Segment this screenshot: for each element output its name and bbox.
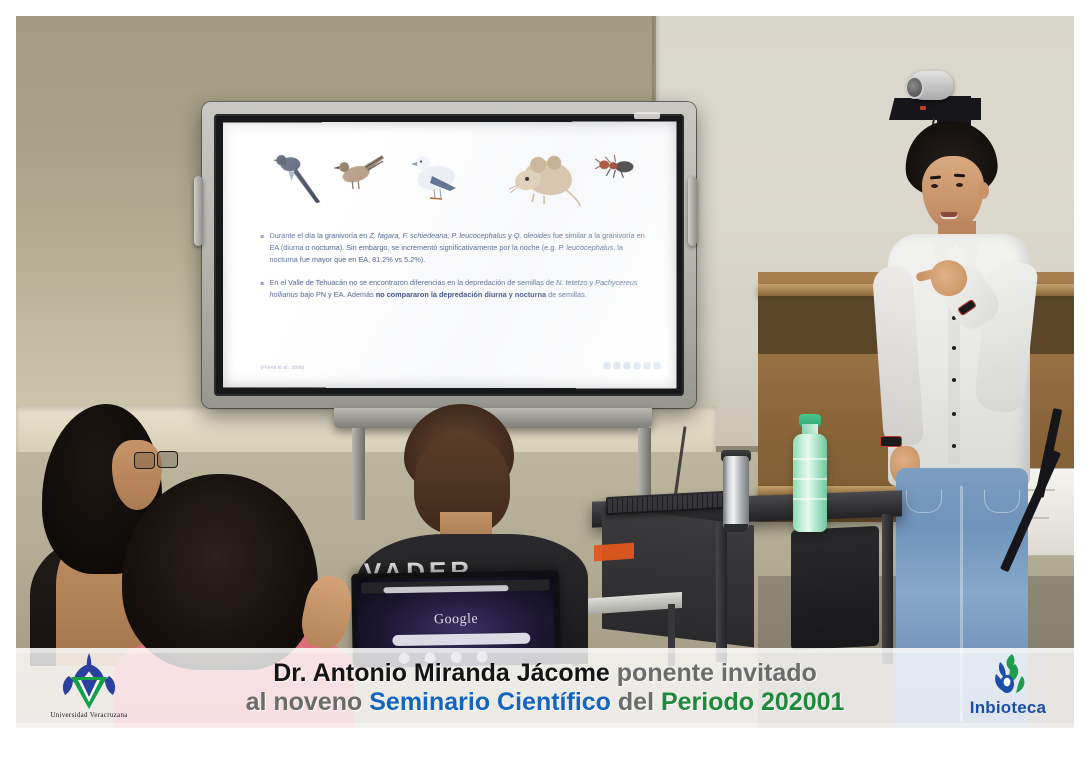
bullet1-text-a: Durante el día la granivoría en [270, 231, 370, 240]
shirt-button [952, 412, 956, 416]
bullet1-species-3: P. leucocephalus [558, 243, 613, 252]
thermos-base [724, 524, 748, 532]
steel-travel-mug [723, 456, 749, 531]
presenter-watch [880, 436, 902, 447]
jeans-pocket-left [906, 490, 942, 513]
desk-leg-front [716, 522, 727, 662]
google-logo: Google [358, 610, 554, 629]
display-handle-right [688, 176, 697, 246]
caption-line-2: al noveno Seminario Científico del Perio… [246, 688, 845, 717]
address-bar[interactable] [383, 585, 508, 593]
speaker-name: Dr. Antonio Miranda Jácome [273, 659, 610, 687]
highlighter-icon[interactable] [613, 362, 620, 369]
slide-bullets: Durante el día la granivoría en Z. fagar… [259, 230, 651, 313]
slide-nav-icon[interactable] [644, 362, 651, 369]
orange-label-sticker [594, 543, 634, 562]
uv-logo-label: Universidad Veracruzana [34, 711, 144, 719]
caption-line2-mid: del [611, 688, 661, 716]
slide-fauna-illustrations [269, 148, 639, 210]
bullet2-text-d: de semillas. [546, 290, 587, 299]
browser-toolbar[interactable] [361, 579, 549, 593]
seminar-photograph: Durante el día la granivoría en Z. fagar… [16, 16, 1074, 728]
display-stand-leg-left [352, 428, 365, 520]
chair [791, 526, 879, 651]
inbioteca-logo: Inbioteca [952, 652, 1064, 726]
bullet1-species-2: Q. oleoides [514, 231, 551, 240]
bullet2-text-a: En el Valle de Tehuacán no se encontraro… [270, 278, 557, 287]
bullet2-species-1: N. tetetzo [556, 278, 587, 287]
bullet1-text-b: y [506, 231, 514, 240]
shirt-button [952, 444, 956, 448]
green-water-bottle [793, 434, 827, 532]
uv-emblem-icon [57, 652, 121, 710]
bullet1-species-1: Z. fagara, F. schiedeana, P. leucocephal… [369, 231, 506, 240]
bullet2-text-c: bajo PN y EA. Además [298, 290, 376, 299]
bullet2-text-b: y [587, 278, 595, 287]
bullet2-emphasis: no compararon la depredación diurna y no… [376, 290, 546, 299]
caption-line2-prefix: al noveno [246, 688, 370, 716]
slide-bullet-1: Durante el día la granivoría en Z. fagar… [259, 230, 651, 266]
pen-icon[interactable] [603, 362, 610, 369]
menu-icon[interactable] [654, 362, 661, 369]
caption-text-block: Dr. Antonio Miranda Jácome ponente invit… [246, 659, 845, 717]
presenter-mouth [940, 212, 958, 219]
desk-leg-back [882, 514, 893, 664]
seminar-name: Seminario Científico [369, 688, 611, 716]
screenshot-canvas: Durante el día la granivoría en Z. fagar… [0, 0, 1090, 760]
period-label: Periodo 202001 [661, 688, 844, 716]
presentation-slide: Durante el día la granivoría en Z. fagar… [223, 122, 677, 389]
caption-line-1: Dr. Antonio Miranda Jácome ponente invit… [246, 659, 845, 688]
eraser-icon[interactable] [623, 362, 630, 369]
presenter-eye-right [956, 183, 963, 187]
jeans-pocket-right [984, 490, 1020, 513]
camera-indicator-light [920, 106, 926, 110]
caption-bottom-edge [16, 723, 1074, 728]
camera-lens-icon [905, 76, 924, 99]
pointer-icon[interactable] [633, 362, 640, 369]
caption-line1-suffix: ponente invitado [610, 659, 817, 687]
presentation-toolbar[interactable] [603, 362, 660, 369]
bottle-ridge [793, 498, 827, 500]
caption-banner: Dr. Antonio Miranda Jácome ponente invit… [16, 648, 1074, 728]
caption-top-edge [16, 648, 1074, 653]
glasses-lens-right [157, 451, 178, 468]
search-input[interactable] [392, 633, 530, 646]
display-handle-left [194, 176, 203, 246]
presenter-eye-left [931, 184, 938, 188]
universidad-veracruzana-logo: Universidad Veracruzana [34, 652, 144, 726]
shirt-button [952, 378, 956, 382]
slide-citation: (Flores et al., 2006) [261, 365, 305, 370]
inbioteca-flame-icon [982, 652, 1034, 700]
shirt-button [952, 346, 956, 350]
bottle-ridge [793, 478, 827, 480]
display-brand-plate [634, 112, 660, 119]
glasses-lens-left [134, 452, 155, 469]
presenter-ear [978, 182, 989, 199]
bottle-ridge [793, 458, 827, 460]
slide-bullet-2: En el Valle de Tehuacán no se encontraro… [259, 277, 651, 301]
glasses-icon [134, 452, 176, 470]
inbioteca-logo-label: Inbioteca [952, 698, 1064, 718]
